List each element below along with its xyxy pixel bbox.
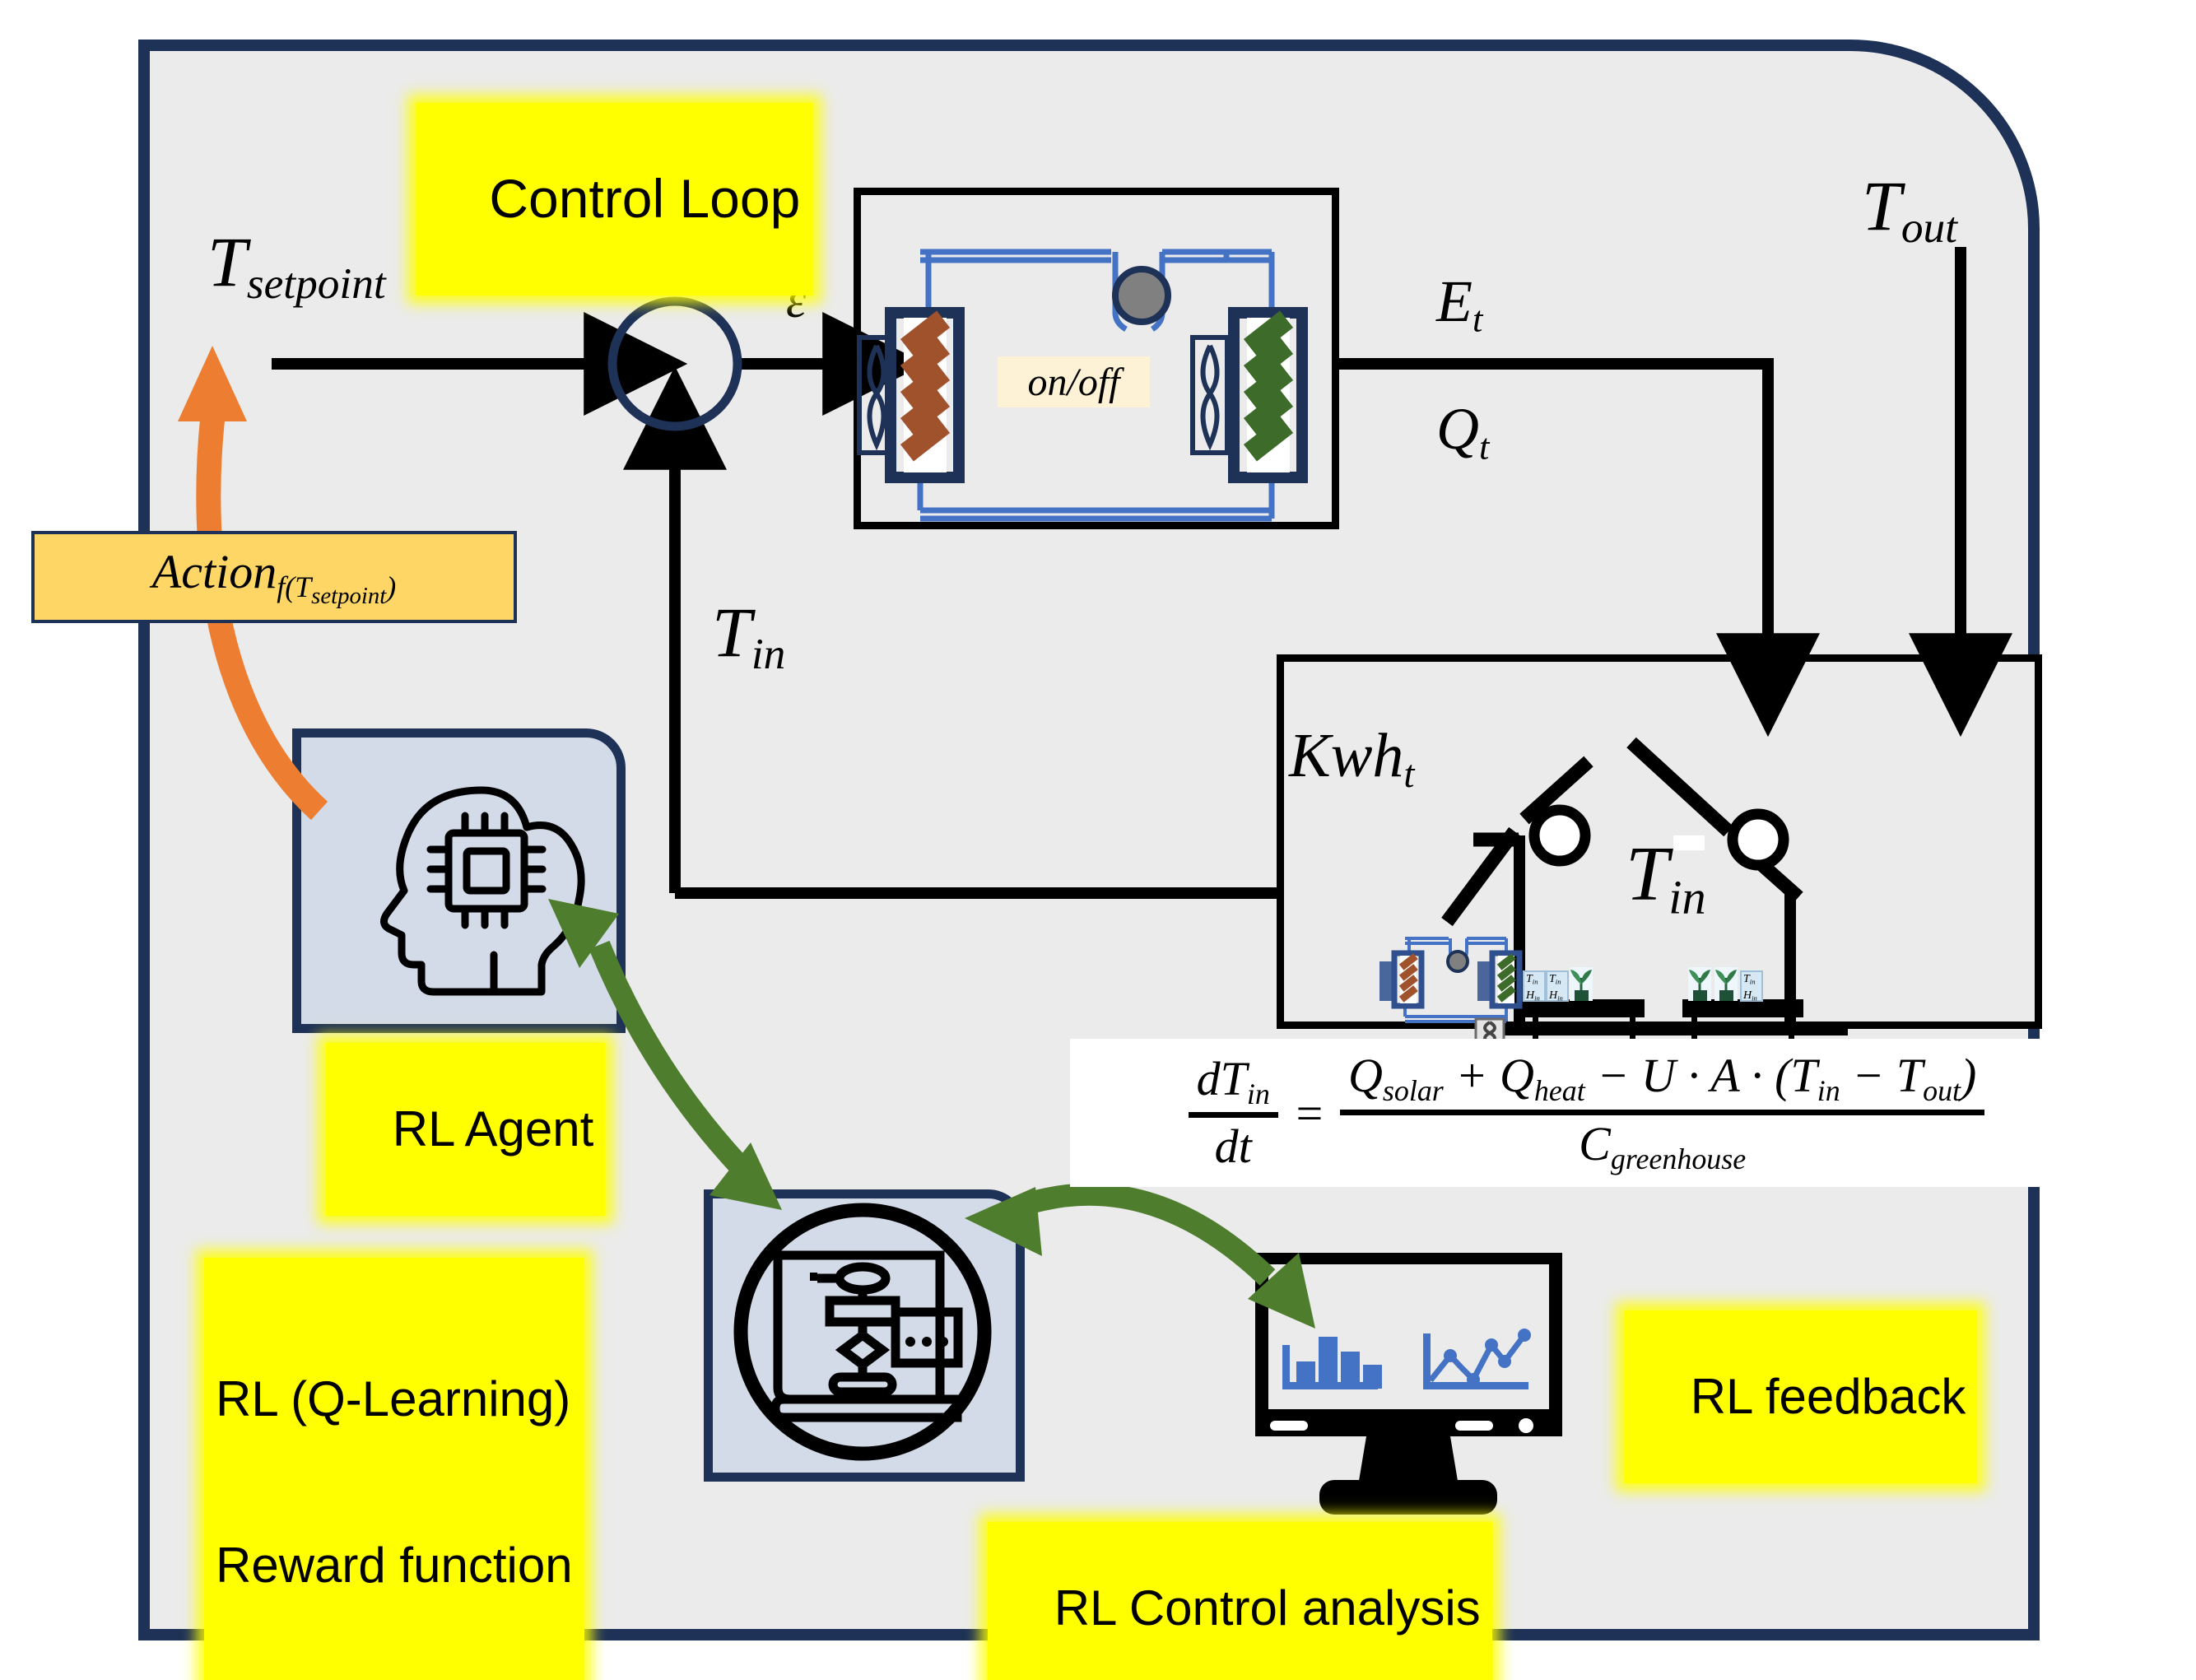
equation-lhs: dTin dt [1189,1055,1278,1171]
rl-agent-box[interactable] [292,728,626,1033]
sensor-card-text-1: Tin Hin [1526,972,1540,1006]
rl-control-analysis-label-text: RL Control analysis [1054,1580,1481,1636]
equation-rhs-bar [1340,1110,1984,1115]
control-loop-label: Control Loop [489,168,800,229]
rl-reward-function-box[interactable] [704,1189,1025,1482]
kwh-label: Kwht [1289,720,1414,797]
rl-reward-label: RL (Q-Learning) Reward function [204,1258,584,1680]
equation-lhs-numerator: dTin [1189,1055,1278,1113]
rl-feedback-label-text: RL feedback [1691,1369,1966,1424]
rl-agent-label-text: RL Agent [393,1101,594,1156]
onoff-text: on/off [1027,360,1119,405]
t-setpoint-label: Tsetpoint [207,221,386,309]
equation-equals: = [1293,1086,1325,1141]
energy-label: Et [1436,268,1482,340]
greenhouse-thermal-equation: dTin dt = Qsolar + Qheat − U · A · (Tin … [1070,1039,2103,1187]
rl-agent-label: RL Agent [326,1043,605,1216]
action-label-text: Actionf(Tsetpoint) [152,544,396,609]
onoff-label-chip: on/off [998,356,1150,407]
equation-rhs: Qsolar + Qheat − U · A · (Tin − Tout) Cg… [1340,1052,1984,1174]
t-in-feedback-label: Tin [712,591,785,679]
sensor-card-text-3: Tin Hin [1743,972,1757,1006]
control-loop-title: Control Loop [416,103,813,296]
t-in-greenhouse-label: Tin [1626,830,1706,924]
t-out-label: Tout [1862,165,1957,253]
heat-label: Qt [1436,395,1489,468]
equation-rhs-denominator: Cgreenhouse [1570,1115,1754,1175]
diagram-canvas: on/off [0,0,2196,1680]
action-label-box[interactable]: Actionf(Tsetpoint) [31,531,517,623]
rl-reward-label-line1: RL (Q-Learning) [216,1371,573,1426]
equation-content: dTin dt = Qsolar + Qheat − U · A · (Tin … [1189,1052,1985,1174]
sensor-card-text-2: Tin Hin [1549,972,1563,1006]
rl-control-analysis-label: RL Control analysis [988,1522,1492,1680]
rl-feedback-label: RL feedback [1624,1310,1977,1483]
equation-rhs-numerator: Qsolar + Qheat − U · A · (Tin − Tout) [1340,1052,1984,1110]
rl-reward-label-line2: Reward function [216,1538,573,1593]
equation-lhs-denominator: dt [1207,1118,1260,1170]
equation-lhs-bar [1189,1112,1278,1118]
